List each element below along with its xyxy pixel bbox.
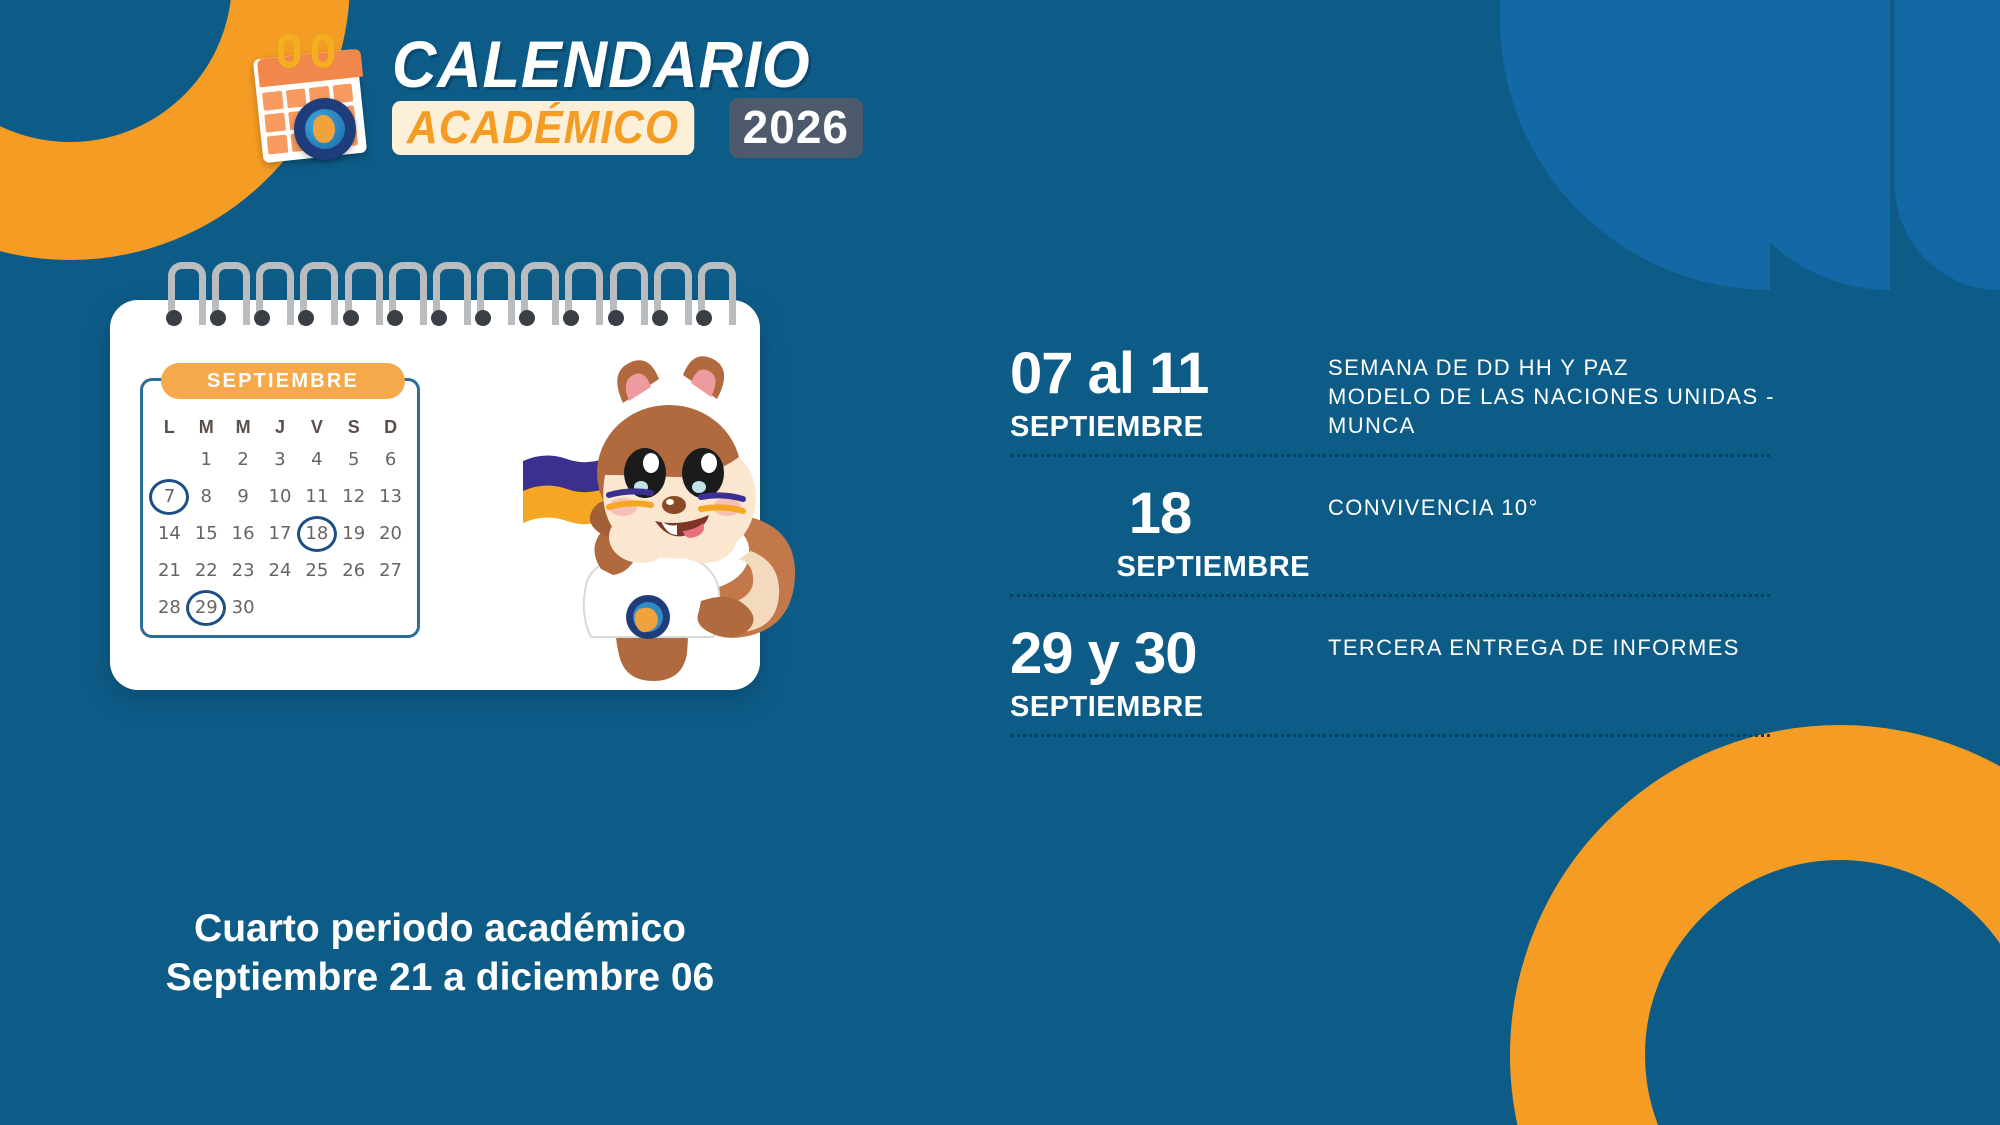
event-description: TERCERA ENTREGA DE INFORMES bbox=[1328, 625, 1770, 662]
calendar-empty-cell bbox=[298, 592, 335, 623]
event-description-line: SEMANA DE DD HH Y PAZ bbox=[1328, 353, 1775, 382]
day-headers: L M M J V S D bbox=[143, 417, 417, 438]
calendar-day-cell[interactable]: 3 bbox=[262, 444, 299, 475]
page-title: CALENDARIO bbox=[392, 33, 830, 96]
calendar-day-cell[interactable]: 12 bbox=[335, 481, 372, 512]
squirrel-mascot bbox=[505, 355, 805, 695]
event-date: 18SEPTIEMBRE bbox=[1010, 485, 1310, 584]
spiral-binding bbox=[165, 262, 725, 340]
calendar-icon bbox=[250, 28, 370, 163]
event-description-line: CONVIVENCIA 10° bbox=[1328, 493, 1770, 522]
event-item: 29 y 30SEPTIEMBRETERCERA ENTREGA DE INFO… bbox=[1010, 625, 1770, 765]
school-badge-icon bbox=[294, 98, 356, 160]
calendar-day-cell[interactable]: 6 bbox=[372, 444, 409, 475]
events-list: 07 al 11SEPTIEMBRESEMANA DE DD HH Y PAZM… bbox=[1010, 345, 1770, 765]
calendar-day-cell[interactable]: 27 bbox=[372, 555, 409, 586]
calendar-week: 282930 bbox=[143, 592, 417, 623]
event-item: 07 al 11SEPTIEMBRESEMANA DE DD HH Y PAZM… bbox=[1010, 345, 1770, 485]
event-description-line: MUNCA bbox=[1328, 411, 1775, 440]
orange-ring-bottom-right bbox=[1510, 725, 2000, 1125]
day-header: V bbox=[298, 417, 335, 438]
calendar-day-cell[interactable]: 28 bbox=[151, 592, 188, 623]
year-badge: 2026 bbox=[729, 98, 863, 158]
caption-line-1: Cuarto periodo académico bbox=[110, 905, 770, 954]
calendar-day-cell[interactable]: 18 bbox=[298, 518, 335, 549]
day-header: M bbox=[225, 417, 262, 438]
calendar-empty-cell bbox=[372, 592, 409, 623]
event-description-line: MODELO DE LAS NACIONES UNIDAS - bbox=[1328, 382, 1775, 411]
day-header: J bbox=[262, 417, 299, 438]
calendar-empty-cell bbox=[262, 592, 299, 623]
notepad-card: SEPTIEMBRE L M M J V S D 123456789101112… bbox=[110, 300, 760, 690]
calendar-day-cell[interactable]: 11 bbox=[298, 481, 335, 512]
event-day: 29 y 30 bbox=[1010, 625, 1310, 683]
calendar-day-cell[interactable]: 16 bbox=[225, 518, 262, 549]
calendar-day-cell[interactable]: 21 bbox=[151, 555, 188, 586]
event-month: SEPTIEMBRE bbox=[1010, 551, 1310, 584]
calendar-day-cell[interactable]: 9 bbox=[225, 481, 262, 512]
calendar-day-cell[interactable]: 8 bbox=[188, 481, 225, 512]
day-header: D bbox=[372, 417, 409, 438]
event-month: SEPTIEMBRE bbox=[1010, 691, 1310, 724]
day-header: M bbox=[188, 417, 225, 438]
header: CALENDARIO ACADÉMICO 2026 bbox=[250, 28, 863, 163]
calendar-day-cell[interactable]: 13 bbox=[372, 481, 409, 512]
day-header: S bbox=[335, 417, 372, 438]
month-calendar: SEPTIEMBRE L M M J V S D 123456789101112… bbox=[140, 378, 420, 638]
day-header: L bbox=[151, 417, 188, 438]
event-date: 07 al 11SEPTIEMBRE bbox=[1010, 345, 1310, 444]
event-item: 18SEPTIEMBRECONVIVENCIA 10° bbox=[1010, 485, 1770, 625]
calendar-week: 123456 bbox=[143, 444, 417, 475]
calendar-empty-cell bbox=[151, 444, 188, 475]
calendar-week: 14151617181920 bbox=[143, 518, 417, 549]
calendar-weeks: 1234567891011121314151617181920212223242… bbox=[143, 444, 417, 623]
calendar-day-cell[interactable]: 7 bbox=[151, 481, 188, 512]
calendar-day-cell[interactable]: 5 bbox=[335, 444, 372, 475]
event-date: 29 y 30SEPTIEMBRE bbox=[1010, 625, 1310, 724]
event-day: 18 bbox=[1010, 485, 1310, 543]
event-description: SEMANA DE DD HH Y PAZMODELO DE LAS NACIO… bbox=[1328, 345, 1775, 440]
calendar-day-cell[interactable]: 30 bbox=[225, 592, 262, 623]
event-divider bbox=[1010, 454, 1770, 457]
calendar-day-cell[interactable]: 14 bbox=[151, 518, 188, 549]
month-title: SEPTIEMBRE bbox=[161, 363, 405, 399]
event-divider bbox=[1010, 734, 1770, 737]
calendar-day-cell[interactable]: 4 bbox=[298, 444, 335, 475]
event-month: SEPTIEMBRE bbox=[1010, 411, 1310, 444]
caption-line-2: Septiembre 21 a diciembre 06 bbox=[110, 954, 770, 1003]
calendar-day-cell[interactable]: 17 bbox=[262, 518, 299, 549]
calendar-day-cell[interactable]: 22 bbox=[188, 555, 225, 586]
page-subtitle: ACADÉMICO bbox=[392, 101, 694, 155]
calendar-week: 21222324252627 bbox=[143, 555, 417, 586]
calendar-day-cell[interactable]: 24 bbox=[262, 555, 299, 586]
calendar-day-cell[interactable]: 1 bbox=[188, 444, 225, 475]
period-caption: Cuarto periodo académico Septiembre 21 a… bbox=[110, 905, 770, 1003]
calendar-day-cell[interactable]: 10 bbox=[262, 481, 299, 512]
event-day: 07 al 11 bbox=[1010, 345, 1310, 403]
calendar-week: 78910111213 bbox=[143, 481, 417, 512]
wordmark: CALENDARIO ACADÉMICO 2026 bbox=[392, 33, 863, 158]
calendar-day-cell[interactable]: 15 bbox=[188, 518, 225, 549]
calendar-empty-cell bbox=[335, 592, 372, 623]
event-description-line: TERCERA ENTREGA DE INFORMES bbox=[1328, 633, 1770, 662]
event-divider bbox=[1010, 594, 1770, 597]
event-description: CONVIVENCIA 10° bbox=[1328, 485, 1770, 522]
blue-arc-3 bbox=[1895, 0, 2000, 290]
calendar-day-cell[interactable]: 2 bbox=[225, 444, 262, 475]
calendar-day-cell[interactable]: 23 bbox=[225, 555, 262, 586]
calendar-day-cell[interactable]: 19 bbox=[335, 518, 372, 549]
calendar-day-cell[interactable]: 20 bbox=[372, 518, 409, 549]
calendar-day-cell[interactable]: 26 bbox=[335, 555, 372, 586]
calendar-day-cell[interactable]: 25 bbox=[298, 555, 335, 586]
calendar-day-cell[interactable]: 29 bbox=[188, 592, 225, 623]
